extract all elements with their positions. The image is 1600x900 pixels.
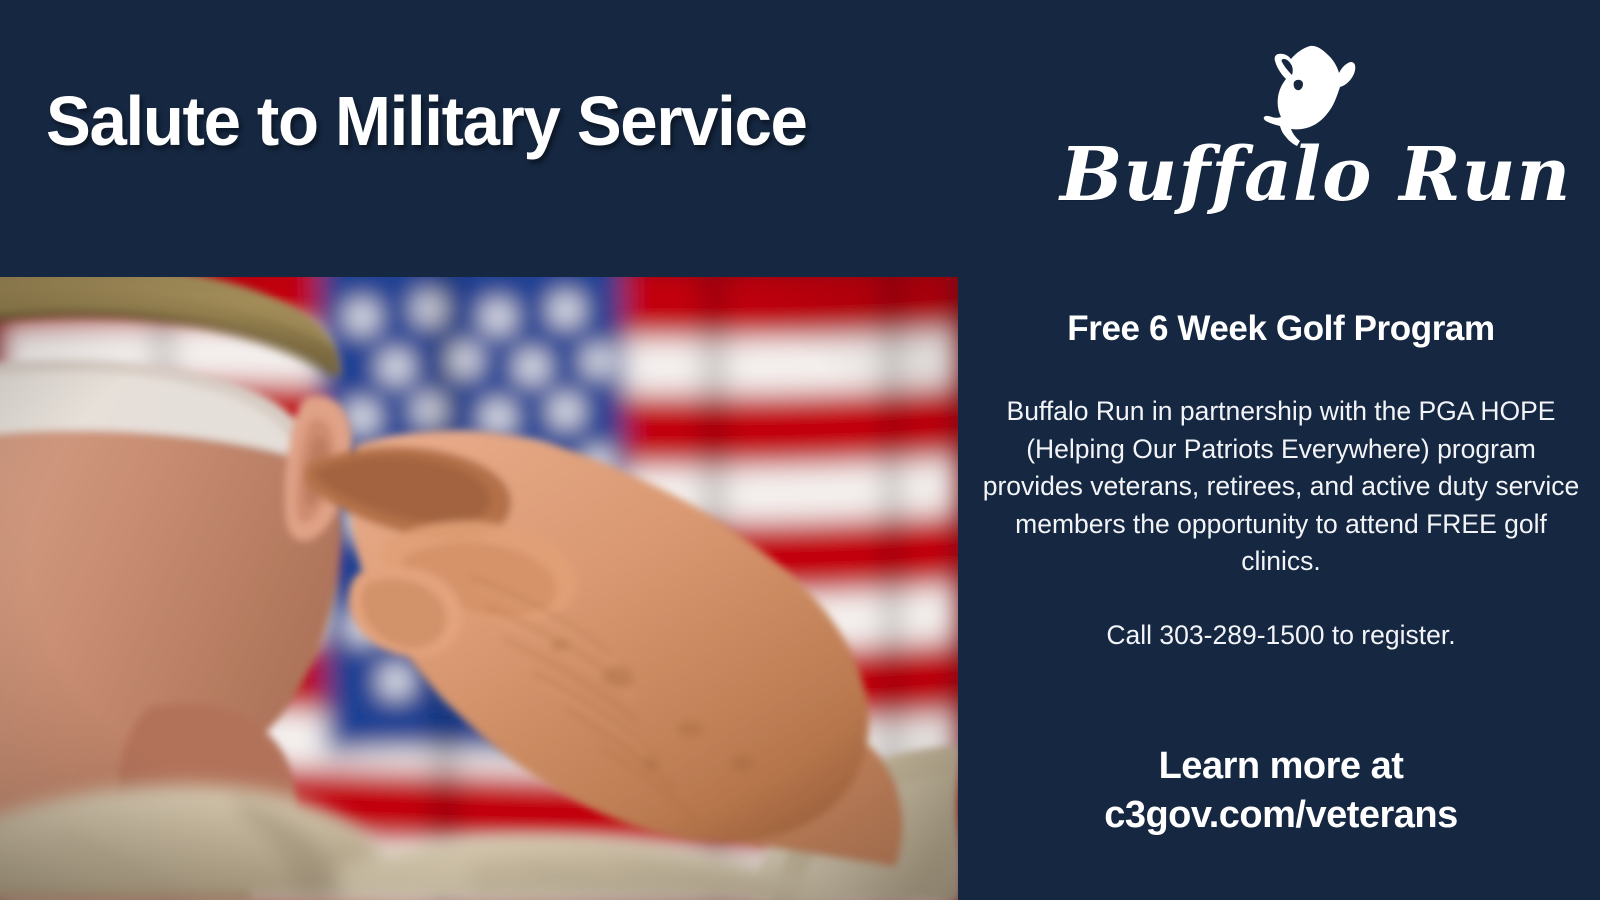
cta-line-1: Learn more at xyxy=(1159,745,1404,787)
learn-more-cta[interactable]: Learn more at c3gov.com/veterans xyxy=(962,742,1600,840)
cta-url[interactable]: c3gov.com/veterans xyxy=(962,791,1600,840)
logo-wordmark: Buffalo Run xyxy=(1060,138,1530,212)
info-column: Free 6 Week Golf Program Buffalo Run in … xyxy=(962,277,1600,900)
page-title: Salute to Military Service xyxy=(46,86,807,156)
program-description: Buffalo Run in partnership with the PGA … xyxy=(980,393,1582,581)
buffalo-run-logo: Buffalo Run xyxy=(1060,42,1530,222)
veteran-salute-photo xyxy=(0,277,958,900)
program-subheading: Free 6 Week Golf Program xyxy=(962,310,1600,349)
register-phone-line[interactable]: Call 303-289-1500 to register. xyxy=(980,617,1582,655)
flyer-canvas: Salute to Military Service Buffalo Run xyxy=(0,0,1600,900)
